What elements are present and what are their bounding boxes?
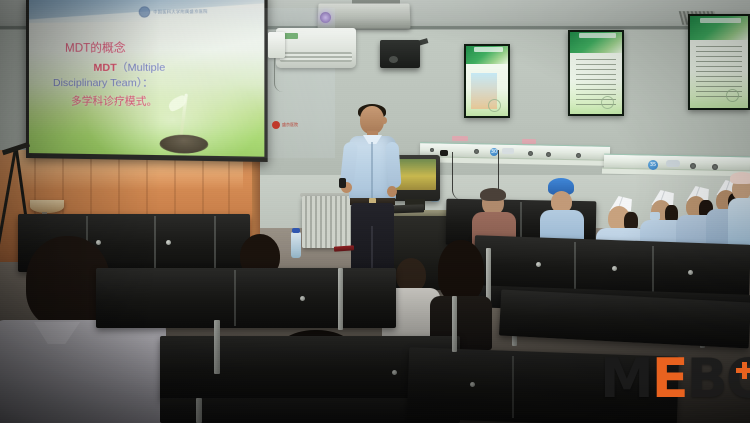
watermark-letter-o: O [726, 352, 750, 406]
gas-outlet [528, 151, 533, 156]
hospital-logo-icon [139, 6, 150, 17]
poster-content [690, 16, 748, 108]
hospital-cross-icon [272, 121, 280, 129]
bench-divider [214, 216, 216, 270]
bench-leg [196, 398, 202, 423]
hair [480, 188, 506, 201]
projected-slide: 中国医科大学附属盛京医院 MDT的概念 MDT（Multiple Discipl… [29, 0, 264, 157]
phone-cord [274, 58, 283, 92]
attendee-white-shirt [0, 236, 170, 423]
decorative-bowl [30, 200, 64, 213]
poster-seal [488, 99, 501, 112]
panel-switch[interactable] [666, 160, 680, 167]
gas-outlet [576, 153, 581, 158]
bench-bolt [612, 266, 617, 271]
bench-divider [574, 242, 576, 290]
slide-text-block: MDT的概念 MDT（Multiple Disciplinary Team）： … [43, 39, 251, 110]
soil-mound [160, 135, 209, 154]
poster-seal [601, 96, 614, 109]
bench-leg [452, 296, 457, 352]
wall-logo-label: 盛京医院 [282, 122, 298, 128]
presentation-clicker [339, 178, 346, 188]
bottle-cap [292, 228, 300, 233]
speaker-cone-icon [389, 56, 398, 63]
presenter-shirt-placket [371, 142, 373, 198]
presenter-right-arm [385, 142, 401, 189]
presenter-head [360, 106, 384, 134]
slide-line-1: MDT的概念 [65, 39, 251, 57]
poster-header [690, 16, 748, 40]
lecture-hall-photo: 中国医科大学附属盛京医院 MDT的概念 MDT（Multiple Discipl… [0, 0, 750, 423]
bench-divider [234, 270, 236, 326]
cable-connector [440, 150, 448, 156]
framed-poster [568, 30, 624, 116]
bench-divider [512, 356, 514, 418]
watermark-letter-m: M [600, 352, 652, 406]
gas-outlet [546, 152, 551, 157]
poster-header [466, 46, 508, 64]
water-bottle [291, 232, 301, 258]
attendee-long-hair [426, 240, 496, 350]
ac-louver [280, 52, 352, 62]
nurse-5 [728, 172, 750, 252]
face-mask [650, 212, 660, 220]
bench-leg [338, 268, 343, 330]
slide-line-3: Disciplinary Team）： [53, 76, 251, 92]
slide-line-2: MDT（Multiple [93, 61, 251, 77]
bench-leg [214, 320, 220, 374]
poster-header [570, 32, 622, 53]
ceiling-projector [318, 4, 411, 29]
wall-logo-sticker: 盛京医院 [272, 120, 302, 129]
wall-air-conditioner [276, 28, 356, 68]
slide-logo-label: 中国医科大学附属盛京医院 [153, 8, 208, 15]
slide-line-2-prefix: MDT [93, 62, 116, 74]
presenter-right-hand [387, 186, 397, 197]
head [396, 258, 426, 292]
poster-content [570, 32, 622, 114]
medical-cross-icon [736, 362, 750, 379]
wall-speaker [380, 40, 420, 68]
gas-outlet [690, 163, 696, 169]
poster-header-text [579, 33, 615, 38]
shirt [0, 320, 166, 423]
trouser-seam [371, 226, 373, 273]
head-cover [730, 172, 750, 184]
bench-bolt [392, 370, 397, 375]
bench-bolt [688, 270, 693, 275]
watermark: M E B O [600, 352, 750, 406]
gas-outlet [712, 164, 718, 170]
hanging-cable [452, 152, 463, 200]
poster-seal [726, 89, 739, 102]
gas-outlet [474, 149, 479, 154]
panel-pink-label [452, 136, 468, 141]
poster-content [466, 46, 508, 116]
bench-backrest [96, 268, 396, 328]
bench-divider [652, 246, 654, 294]
wall-phone[interactable] [268, 32, 285, 58]
poster-header-text [700, 18, 741, 23]
bench-bolt [300, 296, 305, 301]
watermark-letter-e: E [652, 352, 687, 406]
gas-outlet [430, 148, 434, 152]
framed-poster [688, 14, 750, 110]
projection-screen: 中国医科大学附属盛京医院 MDT的概念 MDT（Multiple Discipl… [26, 0, 268, 162]
slide-line-2-rest: （Multiple [117, 62, 166, 74]
slide-logo: 中国医科大学附属盛京医院 [139, 4, 221, 18]
framed-poster [464, 44, 510, 118]
bench-bolt [536, 262, 541, 267]
panel-badge: 35 [648, 160, 658, 170]
poster-header-text [474, 47, 503, 52]
bench-bolt [470, 382, 475, 387]
watermark-letter-b: B [687, 352, 726, 406]
panel-badge: 30 [490, 148, 498, 156]
presenter-ear [382, 117, 387, 124]
presenter [342, 106, 404, 276]
projector-lens-icon [320, 12, 331, 23]
hair [438, 240, 484, 302]
sprout-graphic [160, 91, 209, 151]
